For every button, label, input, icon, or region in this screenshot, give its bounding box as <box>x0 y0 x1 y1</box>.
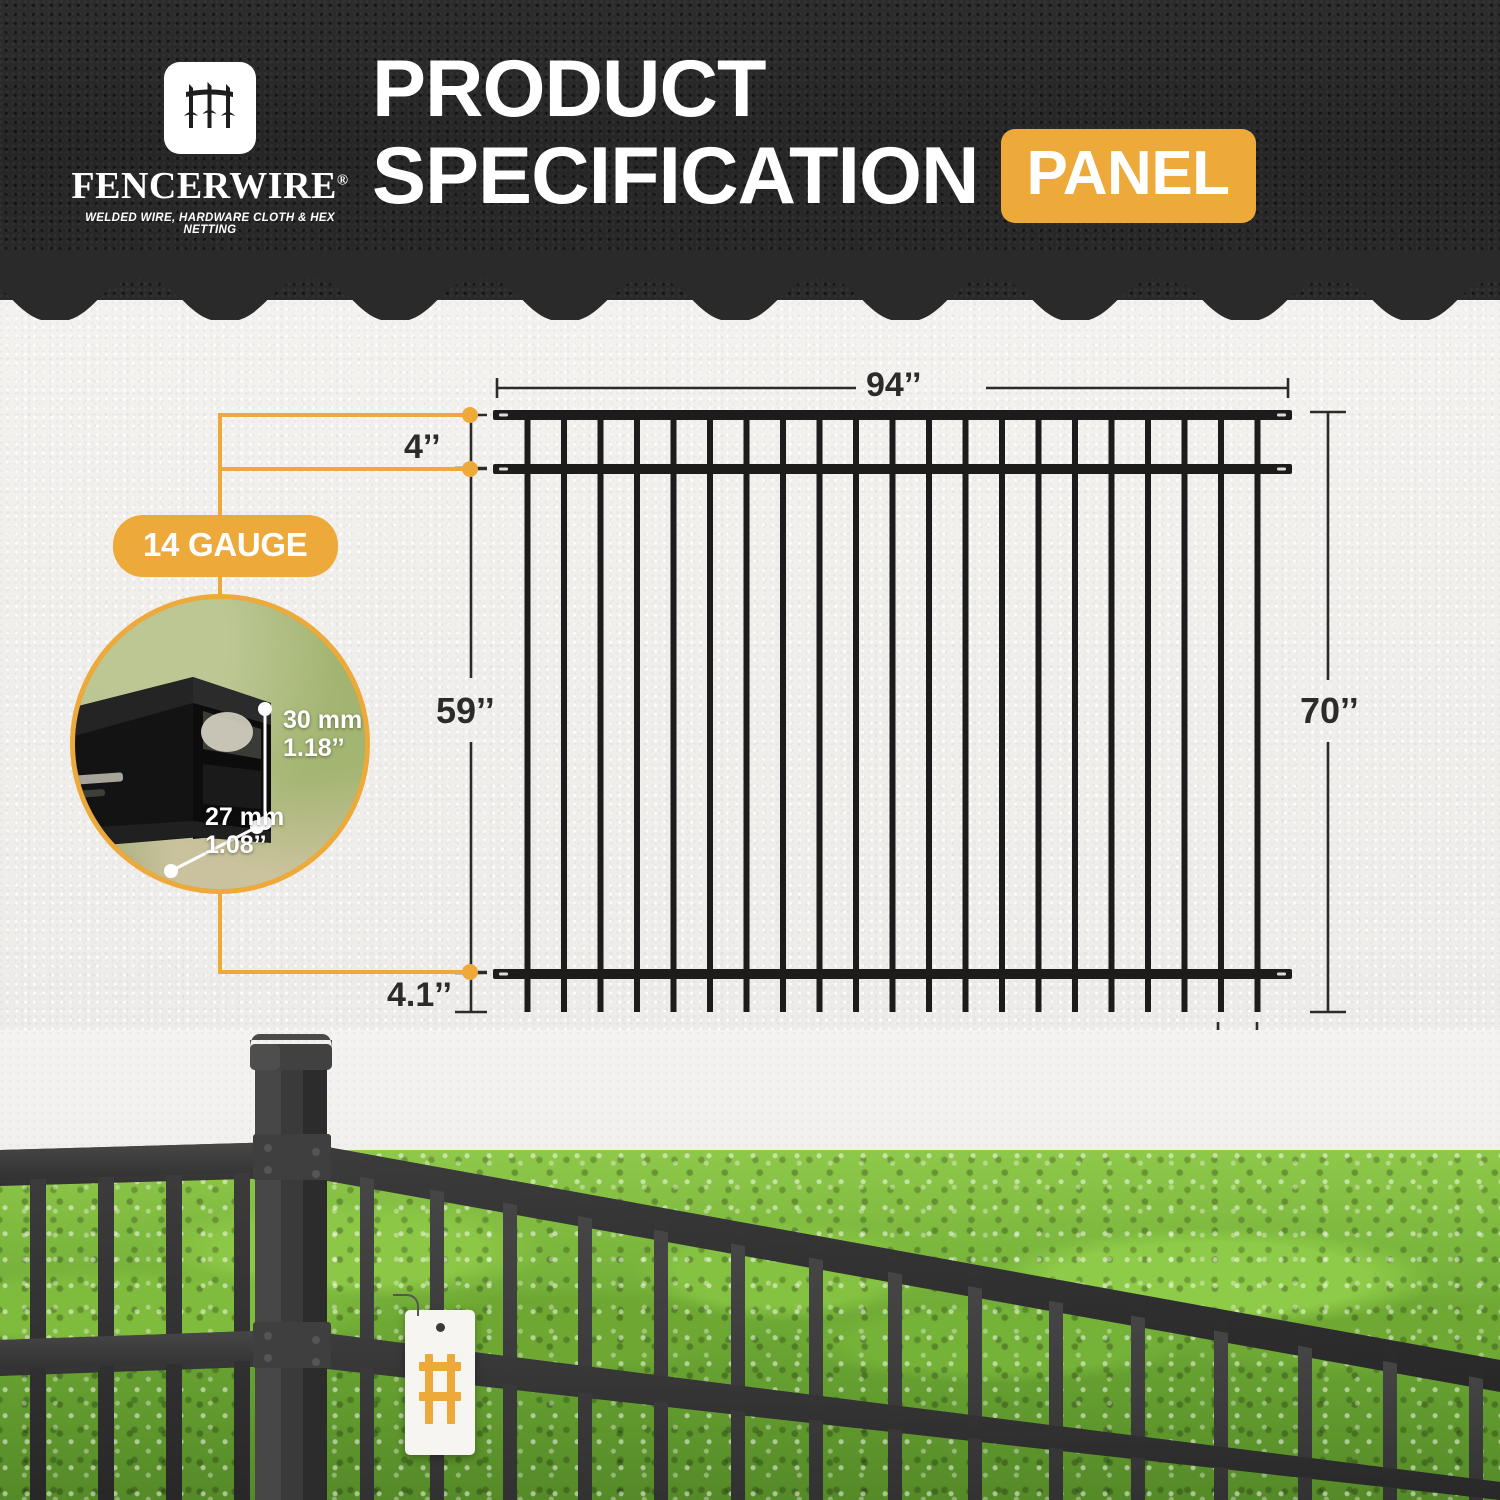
tag-hole-icon <box>436 1323 445 1332</box>
inset-width-mm: 27 mm <box>205 803 284 831</box>
dimension-gap-4 <box>455 415 487 469</box>
dimension-label-extension: 4.1’’ <box>387 976 452 1015</box>
inset-width-label: 27 mm 1.08’’ <box>205 804 284 859</box>
inset-width-in: 1.08’’ <box>205 831 267 859</box>
brand-tagline: WELDED WIRE, HARDWARE CLOTH & HEX NETTIN… <box>60 212 360 236</box>
inset-height-label: 30 mm 1.18’’ <box>283 707 362 762</box>
brand-name: FENCERWIRE® <box>60 164 360 208</box>
hang-tag <box>405 1310 475 1455</box>
inset-height-in: 1.18’’ <box>283 734 345 762</box>
infographic-root: FENCERWIRE® WELDED WIRE, HARDWARE CLOTH … <box>0 0 1500 1500</box>
brand-logo: FENCERWIRE® WELDED WIRE, HARDWARE CLOTH … <box>60 62 360 236</box>
inset-height-mm: 30 mm <box>283 706 362 734</box>
brand-text: FENCERWIRE <box>71 165 336 207</box>
dimension-label-gap: 4’’ <box>404 428 441 467</box>
registered-trademark-icon: ® <box>337 172 349 188</box>
page-title-line2: SPECIFICATION <box>372 137 979 216</box>
header-banner: FENCERWIRE® WELDED WIRE, HARDWARE CLOTH … <box>0 0 1500 320</box>
header-title-block: PRODUCT SPECIFICATION PANEL <box>372 50 1432 223</box>
fence-logo-icon <box>405 1348 475 1438</box>
fence-panel-drawing <box>493 410 1292 1012</box>
dimension-label-width: 94’’ <box>866 366 921 405</box>
dimension-label-overall-height: 70’’ <box>1300 690 1359 732</box>
material-closeup-inset: 30 mm 1.18’’ 27 mm 1.08’’ <box>70 594 370 894</box>
page-title-line1: PRODUCT <box>372 50 1432 129</box>
dimension-label-inner-height: 59’’ <box>436 690 495 732</box>
product-photo <box>0 1030 1500 1500</box>
tag-string <box>393 1294 419 1316</box>
gauge-badge: 14 GAUGE <box>113 515 338 577</box>
fence-logo-icon <box>164 62 256 154</box>
panel-badge: PANEL <box>1001 129 1256 223</box>
installed-fence-illustration <box>0 1030 1500 1500</box>
